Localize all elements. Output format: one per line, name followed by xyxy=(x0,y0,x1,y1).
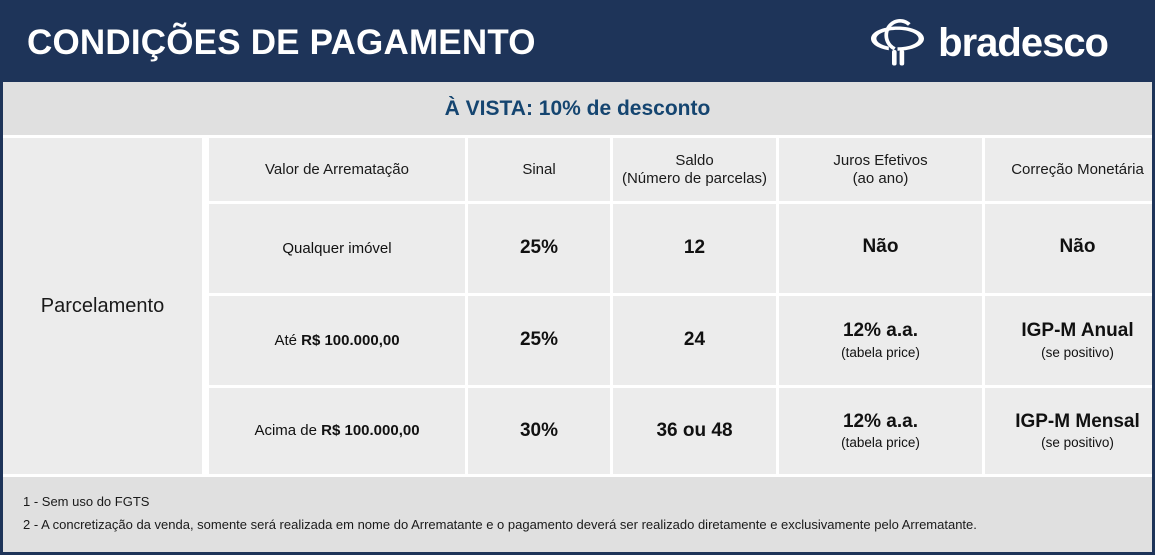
cell-saldo: 12 xyxy=(684,237,705,260)
column-header-sinal-title: Sinal xyxy=(522,161,555,178)
cell-correcao: IGP-M Mensal(se positivo) xyxy=(1015,411,1140,452)
table-row: Não xyxy=(985,204,1155,293)
table-row: Até R$ 100.000,00 xyxy=(209,296,465,385)
column-header-sinal: Sinal xyxy=(468,138,610,201)
column-header-saldo: Saldo (Número de parcelas) xyxy=(613,138,776,201)
payment-conditions-card: CONDIÇÕES DE PAGAMENTO bradesco À VISTA:… xyxy=(0,0,1155,555)
table-row: IGP-M Anual(se positivo) xyxy=(985,296,1155,385)
column-header-correcao-title: Correção Monetária xyxy=(1011,161,1144,178)
table-row: 36 ou 48 xyxy=(613,388,776,474)
card-header: CONDIÇÕES DE PAGAMENTO bradesco xyxy=(3,3,1152,82)
cell-valor: Acima de R$ 100.000,00 xyxy=(254,422,419,440)
cell-sinal: 25% xyxy=(520,237,558,260)
table-row: IGP-M Mensal(se positivo) xyxy=(985,388,1155,474)
cell-sinal: 30% xyxy=(520,420,558,443)
cell-saldo: 36 ou 48 xyxy=(656,420,732,443)
table-row: Acima de R$ 100.000,00 xyxy=(209,388,465,474)
table-row: 24 xyxy=(613,296,776,385)
discount-banner: À VISTA: 10% de desconto xyxy=(3,82,1152,135)
footnotes: 1 - Sem uso do FGTS 2 - A concretização … xyxy=(3,477,1152,555)
cell-juros: Não xyxy=(863,236,899,261)
table-row: 12 xyxy=(613,204,776,293)
conditions-table: Parcelamento Valor de Arrematação Sinal … xyxy=(3,135,1152,474)
cell-sinal: 25% xyxy=(520,329,558,352)
cell-valor: Qualquer imóvel xyxy=(282,240,391,258)
cell-valor: Até R$ 100.000,00 xyxy=(274,332,399,350)
discount-text: À VISTA: 10% de desconto xyxy=(445,97,711,121)
column-header-saldo-sub: (Número de parcelas) xyxy=(622,170,767,187)
column-header-valor-title: Valor de Arrematação xyxy=(265,161,409,178)
table-row: 12% a.a.(tabela price) xyxy=(779,388,982,474)
row-group-label: Parcelamento xyxy=(3,138,202,474)
page-title: CONDIÇÕES DE PAGAMENTO xyxy=(27,23,536,63)
table-row: 12% a.a.(tabela price) xyxy=(779,296,982,385)
table-row: 30% xyxy=(468,388,610,474)
cell-correcao: IGP-M Anual(se positivo) xyxy=(1021,320,1133,361)
cell-juros: 12% a.a.(tabela price) xyxy=(841,320,920,361)
bradesco-tree-symbol-icon xyxy=(867,17,929,69)
column-header-correcao: Correção Monetária xyxy=(985,138,1155,201)
table-row: Não xyxy=(779,204,982,293)
column-header-valor: Valor de Arrematação xyxy=(209,138,465,201)
table-row: 25% xyxy=(468,204,610,293)
column-header-juros: Juros Efetivos (ao ano) xyxy=(779,138,982,201)
table-row: 25% xyxy=(468,296,610,385)
column-header-saldo-title: Saldo xyxy=(675,152,713,169)
cell-juros: 12% a.a.(tabela price) xyxy=(841,411,920,452)
cell-correcao: Não xyxy=(1060,236,1096,261)
column-header-juros-sub: (ao ano) xyxy=(853,170,909,187)
column-header-juros-title: Juros Efetivos xyxy=(833,152,927,169)
footnote-2: 2 - A concretização da venda, somente se… xyxy=(23,514,1152,537)
cell-saldo: 24 xyxy=(684,329,705,352)
bradesco-logo: bradesco xyxy=(867,17,1130,69)
table-grid: Parcelamento Valor de Arrematação Sinal … xyxy=(3,138,1152,474)
table-row: Qualquer imóvel xyxy=(209,204,465,293)
brand-name: bradesco xyxy=(938,23,1108,63)
footnote-1: 1 - Sem uso do FGTS xyxy=(23,491,1152,514)
